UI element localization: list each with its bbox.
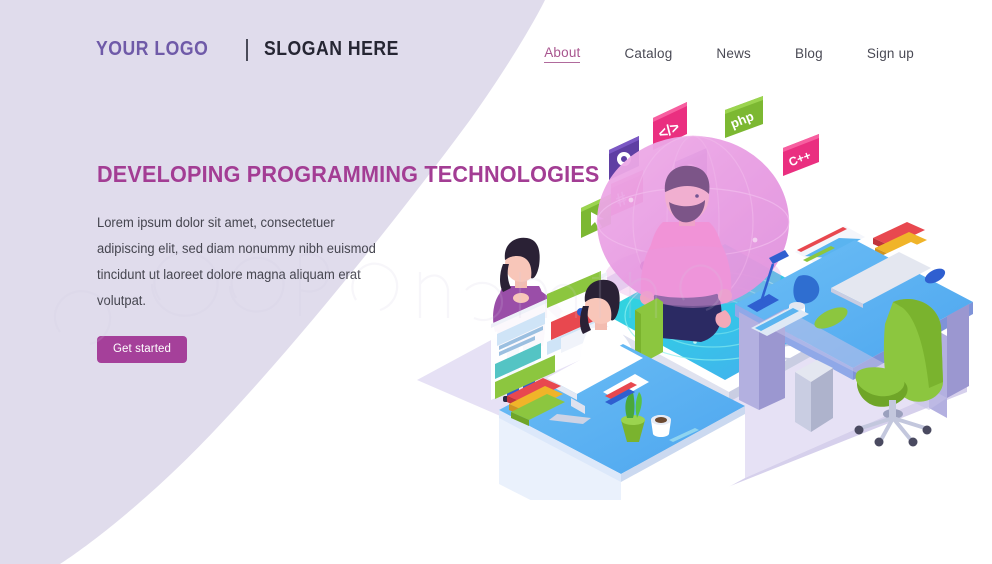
- php-icon: php: [725, 96, 763, 138]
- nav-item-blog[interactable]: Blog: [795, 44, 823, 63]
- pink-sphere-front: [597, 136, 789, 308]
- landing-page: YOUR LOGO SLOGAN HERE About Catalog News…: [0, 0, 992, 564]
- logo-block[interactable]: YOUR LOGO SLOGAN HERE: [96, 38, 417, 61]
- main-navigation: About Catalog News Blog Sign up: [544, 43, 914, 63]
- slogan-text: SLOGAN HERE: [264, 38, 399, 61]
- page-title: DEVELOPING PROGRAMMING TECHNOLOGIES: [97, 160, 465, 188]
- nav-item-signup[interactable]: Sign up: [867, 44, 914, 63]
- logo-divider: [246, 39, 248, 61]
- get-started-button[interactable]: Get started: [97, 336, 187, 363]
- hero-section: DEVELOPING PROGRAMMING TECHNOLOGIES Lore…: [97, 160, 497, 363]
- logo-text: YOUR LOGO: [96, 38, 208, 61]
- hero-description: Lorem ipsum dolor sit amet, consectetuer…: [97, 210, 395, 314]
- site-header: YOUR LOGO SLOGAN HERE About Catalog News…: [0, 0, 992, 100]
- nav-item-catalog[interactable]: Catalog: [624, 44, 672, 63]
- cplusplus-icon: C++: [783, 134, 819, 176]
- nav-item-about[interactable]: About: [544, 43, 580, 63]
- nav-item-news[interactable]: News: [716, 44, 751, 63]
